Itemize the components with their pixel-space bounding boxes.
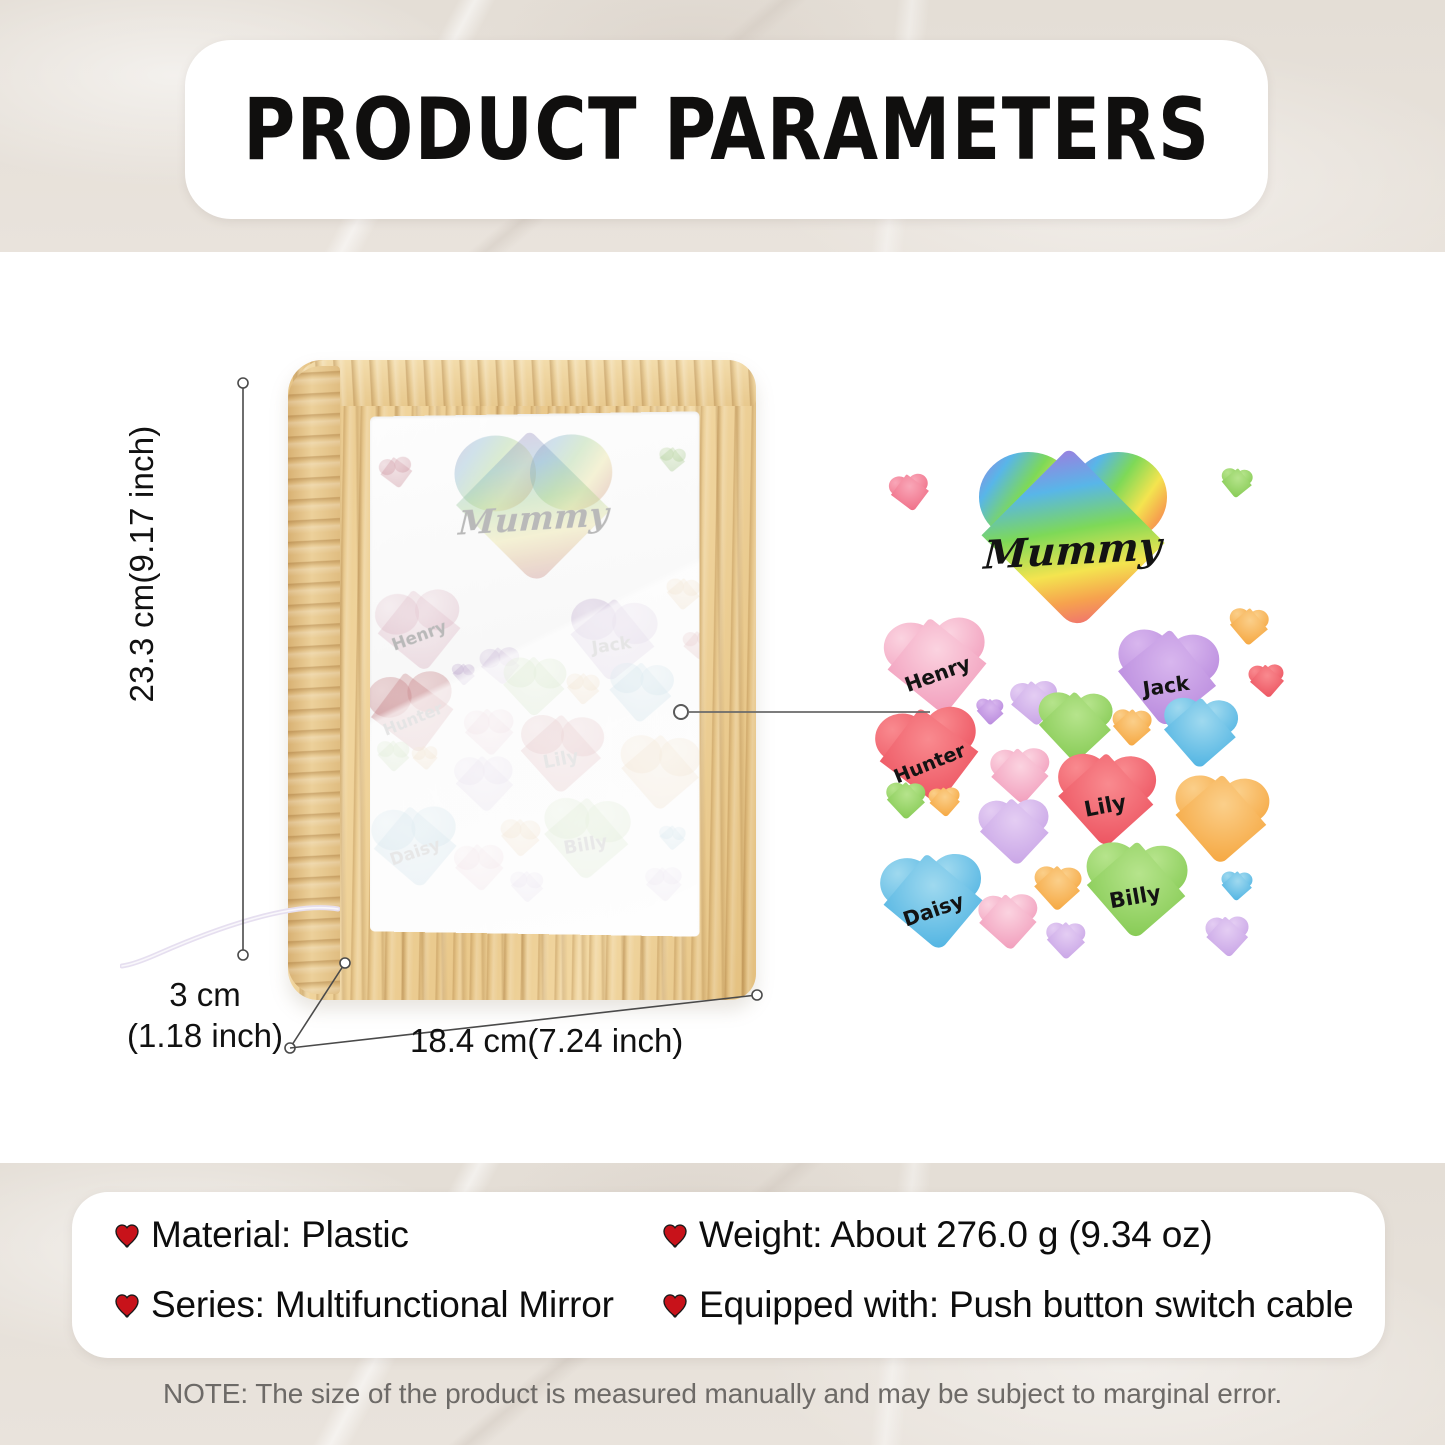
heart-decorative	[1111, 709, 1152, 748]
heart-mummy: Mummy	[454, 434, 612, 581]
heart-decorative	[463, 709, 514, 757]
page-title-pill: PRODUCT PARAMETERS	[185, 40, 1268, 219]
dimension-width-label: 18.4 cm(7.24 inch)	[410, 1022, 683, 1060]
artwork-heart-collage: MummyHenryJackHunterLilyDaisyBilly	[878, 430, 1268, 990]
heart-decorative	[928, 787, 961, 818]
heart-decorative	[1220, 871, 1253, 902]
heart-decorative	[617, 734, 700, 813]
heart-decorative	[1160, 696, 1239, 769]
heart-decorative	[509, 871, 543, 903]
heart-daisy: Daisy	[370, 805, 461, 890]
heart-decorative	[1247, 664, 1284, 699]
page-title: PRODUCT PARAMETERS	[243, 80, 1210, 180]
dimension-height-label: 23.3 cm(9.17 inch)	[123, 414, 161, 714]
heart-decorative	[658, 447, 687, 474]
heart-decorative	[607, 661, 674, 723]
heart-decorative	[887, 472, 931, 513]
power-cable	[120, 895, 340, 975]
heart-decorative	[451, 663, 475, 685]
heart-henry: Henry	[373, 587, 465, 674]
heart-decorative	[453, 756, 514, 812]
heart-icon	[112, 1221, 142, 1251]
heart-decorative	[565, 673, 600, 706]
dimension-depth-line2: (1.18 inch)	[110, 1016, 300, 1057]
heart-decorative	[499, 818, 540, 857]
heart-icon	[660, 1291, 690, 1321]
dimension-depth-line1: 3 cm	[110, 975, 300, 1016]
heart-decorative	[665, 578, 700, 611]
heart-decorative	[682, 631, 700, 661]
spec-item-series: Series: Multifunctional Mirror	[112, 1284, 614, 1326]
heart-decorative	[978, 798, 1050, 865]
heart-lily: Lily	[518, 713, 605, 794]
spec-equipped-label: Equipped with: Push button switch cable	[699, 1284, 1354, 1326]
spec-item-material: Material: Plastic	[112, 1214, 409, 1256]
heart-daisy: Daisy	[878, 851, 987, 953]
heart-decorative	[411, 745, 439, 771]
product-parameters-page: PRODUCT PARAMETERS MummyHenryJackHunterL…	[0, 0, 1445, 1445]
heart-icon	[112, 1291, 142, 1321]
heart-icon	[660, 1221, 690, 1251]
spec-material-label: Material: Plastic	[151, 1214, 409, 1256]
heart-decorative	[1220, 468, 1254, 500]
spec-item-weight: Weight: About 276.0 g (9.34 oz)	[660, 1214, 1213, 1256]
heart-decorative	[1045, 922, 1085, 959]
heart-decorative	[990, 748, 1051, 805]
measurement-note: NOTE: The size of the product is measure…	[0, 1378, 1445, 1410]
heart-decorative	[1228, 608, 1270, 647]
wood-frame-bottom-face	[294, 944, 756, 1002]
heart-lily: Lily	[1055, 752, 1157, 847]
specifications-card: Material: Plastic Weight: About 276.0 g …	[72, 1192, 1385, 1358]
heart-decorative	[1033, 866, 1082, 911]
spec-weight-label: Weight: About 276.0 g (9.34 oz)	[699, 1214, 1213, 1256]
heart-decorative	[376, 740, 409, 771]
heart-mummy: Mummy	[979, 452, 1166, 624]
dimension-depth-label: 3 cm (1.18 inch)	[110, 975, 300, 1057]
heart-billy: Billy	[1082, 841, 1190, 941]
product-frame-image: MummyHenryJackHunterLilyDaisyBilly	[268, 352, 768, 1012]
heart-decorative	[658, 825, 686, 852]
wood-frame-top-face	[294, 360, 756, 406]
heart-billy: Billy	[540, 796, 632, 882]
heart-decorative	[378, 455, 414, 490]
spec-series-label: Series: Multifunctional Mirror	[151, 1284, 614, 1326]
heart-decorative	[885, 782, 925, 819]
spec-item-equipped: Equipped with: Push button switch cable	[660, 1284, 1354, 1326]
heart-decorative	[453, 844, 504, 891]
heart-decorative	[978, 893, 1039, 950]
heart-henry: Henry	[881, 615, 992, 718]
heart-decorative	[975, 698, 1004, 725]
heart-decorative	[1205, 916, 1250, 958]
mirror-panel: MummyHenryJackHunterLilyDaisyBilly	[370, 411, 700, 936]
heart-decorative	[645, 867, 684, 902]
